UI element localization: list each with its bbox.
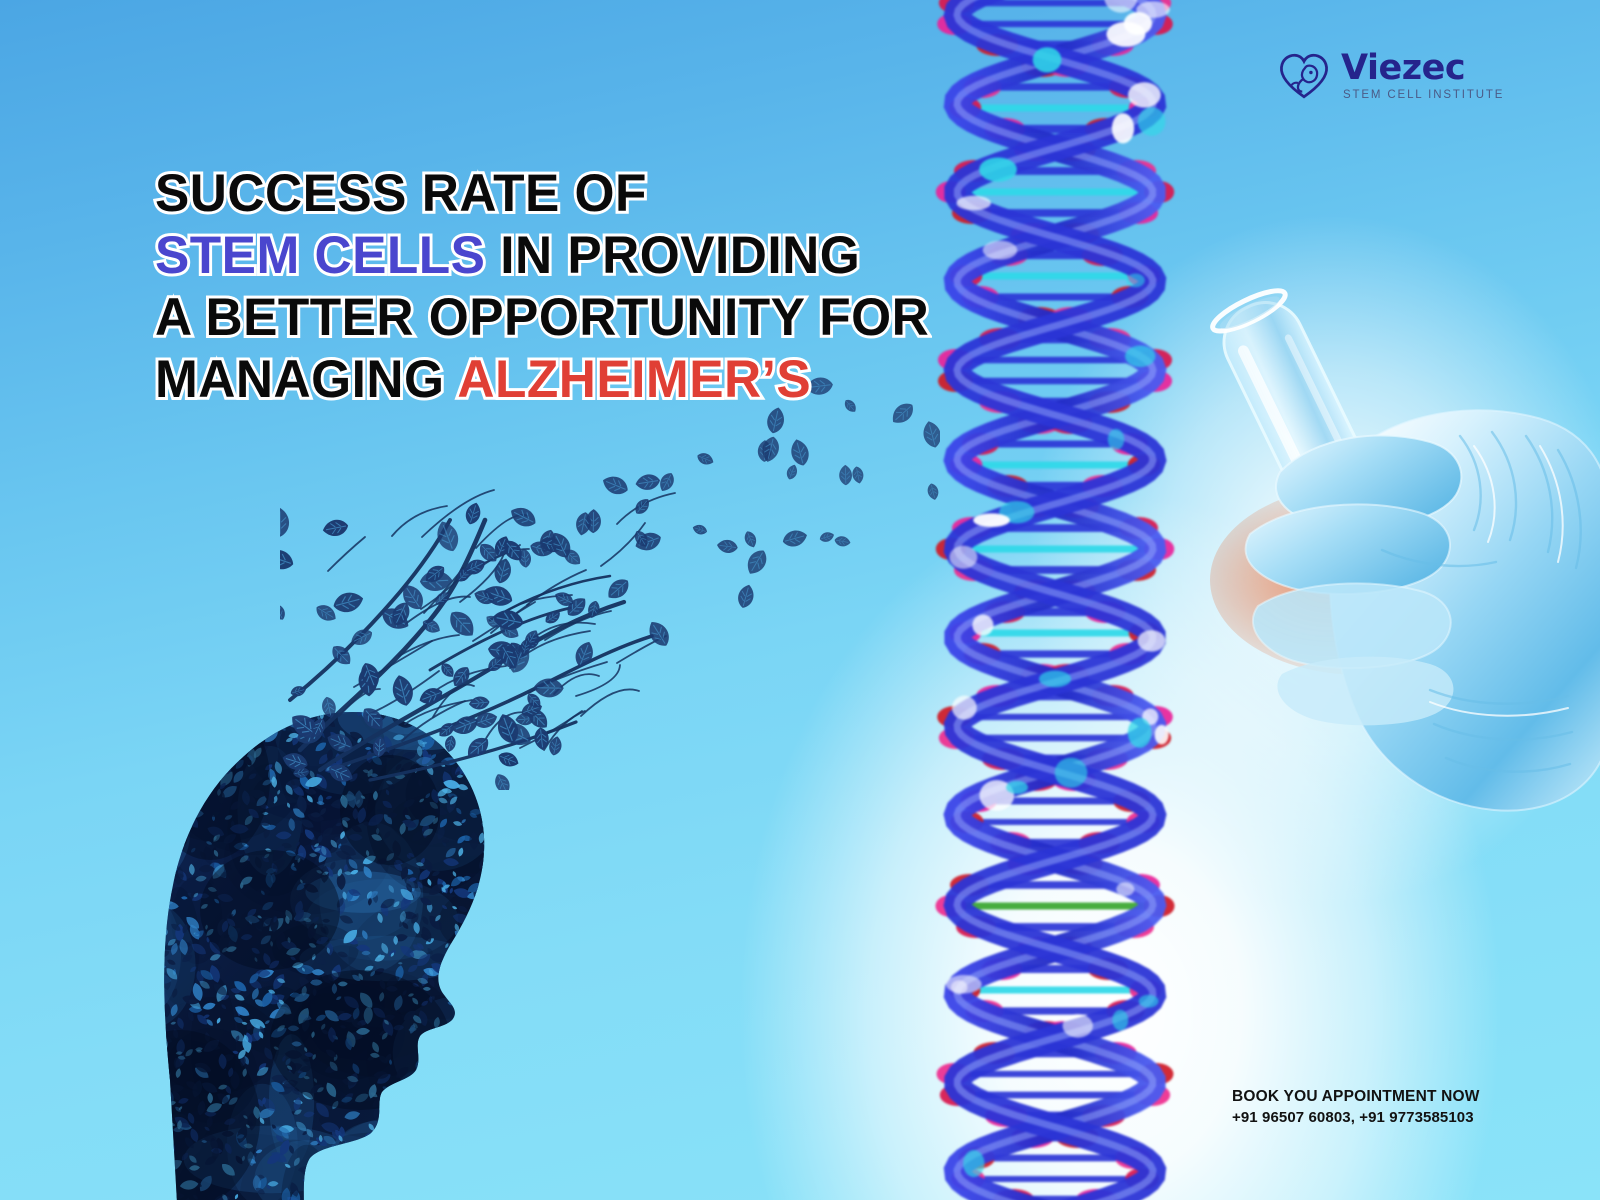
headline-line-3: A BETTER OPPORTUNITY FOR (155, 287, 892, 349)
headline-line-2: STEM CELLS IN PROVIDING (155, 225, 892, 287)
cta-book-appointment[interactable]: BOOK YOU APPOINTMENT NOW (1232, 1086, 1480, 1107)
brand-logo[interactable]: Viezec STEM CELL INSTITUTE (1278, 50, 1504, 102)
poster-canvas: Viezec STEM CELL INSTITUTE SUCCESS RATE … (0, 0, 1600, 1200)
contact-phone-numbers[interactable]: +91 96507 60803, +91 9773585103 (1232, 1107, 1480, 1128)
headline-text-success-rate: SUCCESS RATE OF (155, 164, 647, 223)
gloved-hand-holding-test-tube (1130, 250, 1600, 890)
contact-block[interactable]: BOOK YOU APPOINTMENT NOW +91 96507 60803… (1232, 1086, 1480, 1128)
headline-highlight-stem-cells: STEM CELLS (155, 226, 485, 285)
headline-line-1: SUCCESS RATE OF (155, 163, 892, 225)
logo-tagline: STEM CELL INSTITUTE (1343, 90, 1504, 102)
headline-text-better-opportunity: A BETTER OPPORTUNITY FOR (155, 288, 929, 347)
logo-name: Viezec (1341, 51, 1504, 86)
headline-highlight-alzheimers: ALZHEIMER’S (457, 350, 811, 409)
page-title: SUCCESS RATE OF STEM CELLS IN PROVIDING … (155, 163, 915, 411)
heart-embryo-icon (1278, 50, 1330, 102)
headline-line-4: MANAGING ALZHEIMER’S (155, 349, 892, 411)
headline-text-managing: MANAGING (155, 350, 457, 409)
headline-text-in-providing: IN PROVIDING (485, 226, 860, 285)
dissolving-branches-and-leaves (280, 370, 940, 790)
